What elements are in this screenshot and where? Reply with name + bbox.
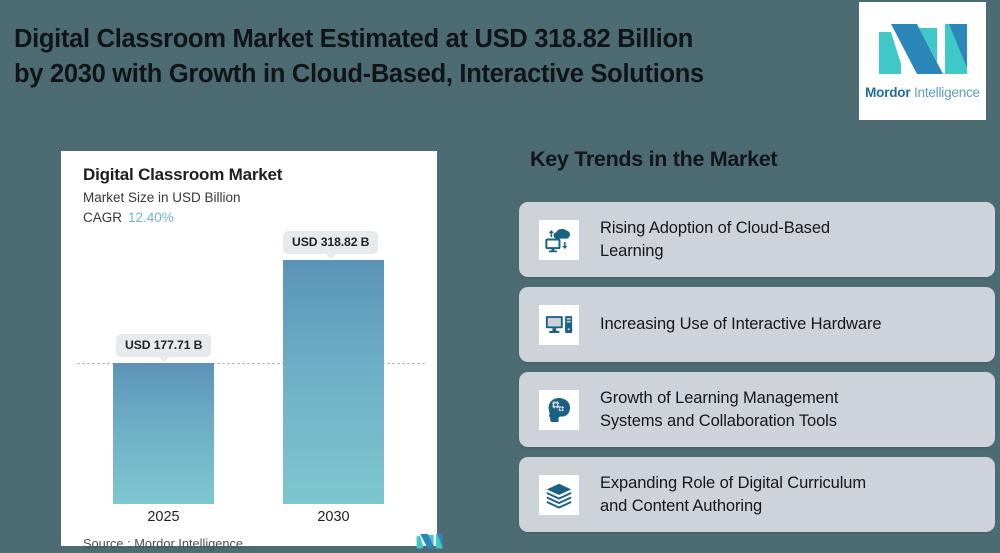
- cloud-sync-monitor-icon: [539, 220, 579, 260]
- trend-card-text: Expanding Role of Digital Curriculum and…: [600, 472, 866, 518]
- trends-list: Rising Adoption of Cloud-Based Learning: [519, 202, 995, 542]
- trend-text-line-2: Learning: [600, 242, 663, 260]
- trend-text-line-1: Growth of Learning Management: [600, 389, 838, 407]
- page-title: Digital Classroom Market Estimated at US…: [14, 22, 844, 92]
- trend-text-line-2: and Content Authoring: [600, 497, 762, 515]
- trend-text-line-2: Systems and Collaboration Tools: [600, 412, 837, 430]
- trend-card-interactive-hardware[interactable]: Increasing Use of Interactive Hardware: [519, 287, 995, 362]
- bar-2030: [283, 260, 384, 504]
- cagr-value: 12.40%: [128, 210, 174, 225]
- brand-logo-box: Mordor Intelligence: [859, 2, 986, 120]
- x-axis-tick-2025: 2025: [113, 509, 214, 525]
- logo-word-bold: Mordor: [865, 85, 910, 100]
- x-axis-tick-2030: 2030: [283, 509, 384, 525]
- head-gears-icon: [539, 390, 579, 430]
- bar-value-label-2030: USD 318.82 B: [283, 231, 378, 254]
- trend-card-text: Rising Adoption of Cloud-Based Learning: [600, 217, 830, 263]
- chart-card: Digital Classroom Market Market Size in …: [61, 151, 437, 546]
- bar-value-label-2025: USD 177.71 B: [116, 334, 211, 357]
- trend-text-line-1: Rising Adoption of Cloud-Based: [600, 219, 830, 237]
- trends-heading: Key Trends in the Market: [530, 147, 777, 172]
- mordor-intelligence-logo-icon: [877, 22, 969, 78]
- chart-cagr: CAGR12.40%: [83, 210, 174, 225]
- trend-card-text: Growth of Learning Management Systems an…: [600, 387, 838, 433]
- logo-word-light: Intelligence: [914, 85, 980, 100]
- chart-source-text: Source : Mordor Intelligence: [83, 536, 243, 551]
- trend-text-line-1: Expanding Role of Digital Curriculum: [600, 474, 866, 492]
- bar-chart-plot: USD 177.71 B USD 318.82 B: [61, 246, 437, 504]
- trend-card-text: Increasing Use of Interactive Hardware: [600, 313, 881, 336]
- bar-2025: [113, 363, 214, 504]
- trend-card-learning-management-systems[interactable]: Growth of Learning Management Systems an…: [519, 372, 995, 447]
- infographic-canvas: Digital Classroom Market Estimated at US…: [0, 0, 1000, 553]
- stacked-books-icon: [539, 475, 579, 515]
- desktop-computer-icon: [539, 305, 579, 345]
- logo-wordmark: Mordor Intelligence: [865, 85, 980, 100]
- trend-card-cloud-based-learning[interactable]: Rising Adoption of Cloud-Based Learning: [519, 202, 995, 277]
- trend-text-line-1: Increasing Use of Interactive Hardware: [600, 315, 881, 333]
- page-title-line-1: Digital Classroom Market Estimated at US…: [14, 22, 844, 57]
- trend-card-digital-curriculum[interactable]: Expanding Role of Digital Curriculum and…: [519, 457, 995, 532]
- chart-subtitle: Market Size in USD Billion: [83, 190, 241, 205]
- chart-title: Digital Classroom Market: [83, 165, 282, 185]
- cagr-label: CAGR: [83, 210, 122, 225]
- mordor-intelligence-logo-small-icon: [416, 533, 443, 550]
- page-title-line-2: by 2030 with Growth in Cloud-Based, Inte…: [14, 57, 844, 92]
